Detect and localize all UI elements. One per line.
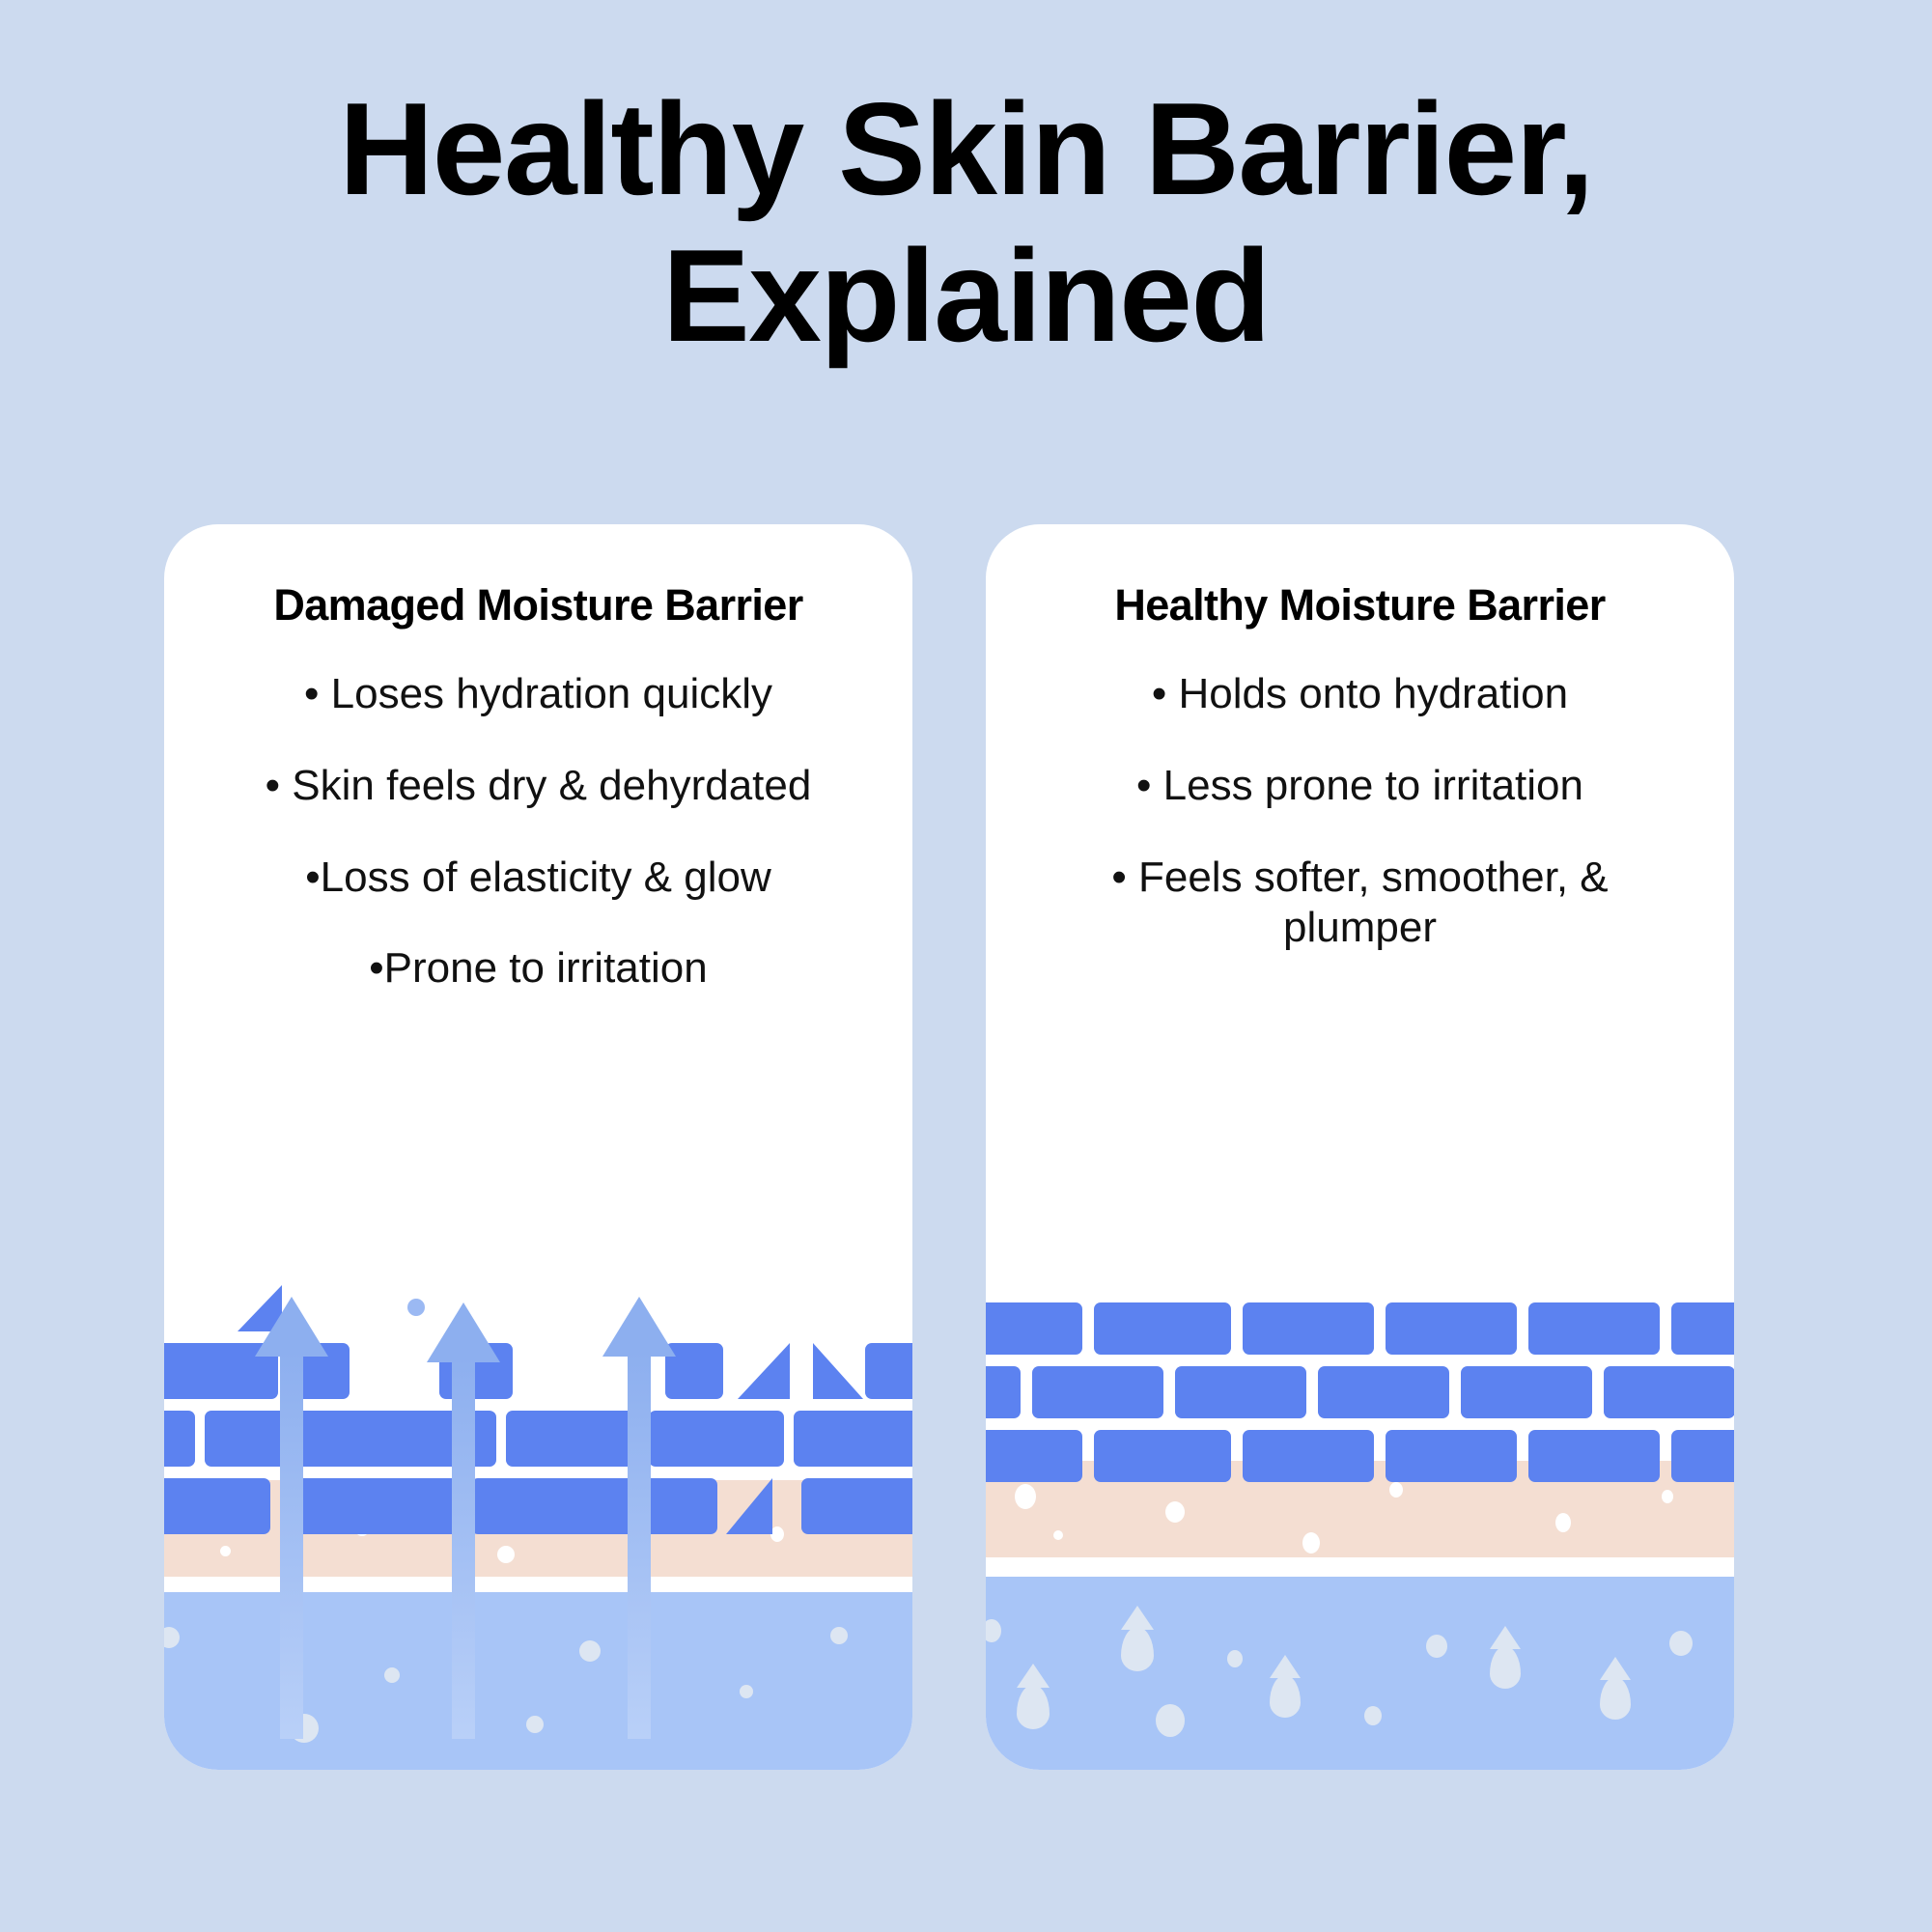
water-droplet [1017, 1685, 1050, 1729]
water-droplet [1121, 1627, 1154, 1671]
brick [1318, 1366, 1449, 1418]
intact-brick-wall [986, 1274, 1734, 1461]
comparison-cards: Damaged Moisture Barrier • Loses hydrati… [164, 524, 1757, 1770]
water-dot [164, 1627, 180, 1648]
list-item: • Skin feels dry & dehyrdated [187, 761, 889, 812]
dermis-spot [1389, 1482, 1403, 1498]
brick [1528, 1430, 1660, 1482]
brick [282, 1478, 461, 1534]
broken-brick-fragment [738, 1343, 790, 1399]
water-reservoir-layer [164, 1592, 912, 1770]
brick [1032, 1366, 1163, 1418]
brick [865, 1343, 912, 1399]
list-item: •Loss of elasticity & glow [187, 853, 889, 904]
water-dot [986, 1619, 1001, 1642]
card-healthy-bullet-list: • Holds onto hydration • Less prone to i… [1009, 669, 1711, 994]
brick [649, 1411, 784, 1467]
damaged-barrier-illustration [164, 1287, 912, 1770]
list-item: • Less prone to irritation [1009, 761, 1711, 812]
dermis-spot [1053, 1530, 1063, 1540]
water-dot [384, 1667, 400, 1683]
card-damaged-moisture-barrier: Damaged Moisture Barrier • Loses hydrati… [164, 524, 912, 1770]
water-droplet [1490, 1646, 1521, 1689]
water-reservoir-layer [986, 1577, 1734, 1770]
list-item: •Prone to irritation [187, 943, 889, 994]
card-damaged-bullet-list: • Loses hydration quickly • Skin feels d… [187, 669, 889, 1035]
brick [986, 1302, 1082, 1355]
arrow-shaft [452, 1358, 475, 1739]
water-dot [1426, 1635, 1447, 1658]
water-dot [579, 1640, 601, 1662]
water-dot [526, 1716, 544, 1733]
water-dot [1227, 1650, 1243, 1667]
broken-brick-fragment [813, 1343, 863, 1399]
water-dot [740, 1685, 753, 1698]
water-dot [1364, 1706, 1382, 1725]
water-droplet [1270, 1675, 1301, 1718]
brick [1461, 1366, 1592, 1418]
dermis-spot [770, 1526, 784, 1542]
arrow-shaft [280, 1353, 303, 1739]
water-dot [830, 1627, 848, 1644]
water-dot [1156, 1704, 1185, 1737]
brick [1604, 1366, 1734, 1418]
brick [164, 1411, 195, 1467]
dermis-spot [1015, 1484, 1036, 1509]
card-damaged-title: Damaged Moisture Barrier [164, 580, 912, 630]
broken-brick-fragment [726, 1478, 772, 1534]
list-item: • Holds onto hydration [1009, 669, 1711, 720]
brick [986, 1430, 1082, 1482]
list-item: • Loses hydration quickly [187, 669, 889, 720]
brick [1175, 1366, 1306, 1418]
dermis-spot [1302, 1532, 1320, 1554]
list-item: • Feels softer, smoother, & plumper [1009, 853, 1711, 955]
water-droplet [1600, 1677, 1631, 1720]
brick [1243, 1302, 1374, 1355]
dermis-spot [1662, 1490, 1673, 1503]
brick [986, 1366, 1021, 1418]
page-title: Healthy Skin Barrier, Explained [0, 75, 1932, 370]
brick [1528, 1302, 1660, 1355]
arrow-head-icon [602, 1297, 676, 1357]
brick [471, 1478, 717, 1534]
arrow-shaft [628, 1353, 651, 1739]
card-healthy-moisture-barrier: Healthy Moisture Barrier • Holds onto hy… [986, 524, 1734, 1770]
brick [1094, 1302, 1231, 1355]
dermis-spot [1165, 1501, 1185, 1523]
brick [164, 1478, 270, 1534]
healthy-barrier-illustration [986, 1287, 1734, 1770]
brick [794, 1411, 912, 1467]
brick [1671, 1430, 1734, 1482]
card-healthy-title: Healthy Moisture Barrier [986, 580, 1734, 630]
brick [1386, 1430, 1517, 1482]
water-dot [1669, 1631, 1693, 1656]
brick [1671, 1302, 1734, 1355]
brick [506, 1411, 641, 1467]
dermis-spot [497, 1546, 515, 1563]
brick [1386, 1302, 1517, 1355]
arrow-head-icon [255, 1297, 328, 1357]
arrow-head-icon [427, 1302, 500, 1362]
brick [801, 1478, 912, 1534]
brick [1243, 1430, 1374, 1482]
brick [1094, 1430, 1231, 1482]
dermis-spot [1555, 1513, 1571, 1532]
dermis-spot [220, 1546, 231, 1556]
